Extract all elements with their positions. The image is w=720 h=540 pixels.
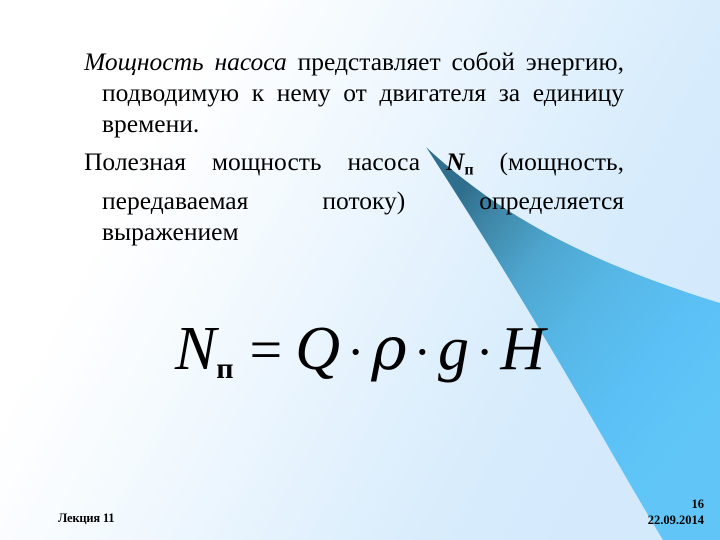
- slide-date: 22.09.2014: [648, 512, 704, 528]
- formula-term-q: Q: [295, 318, 340, 380]
- formula-term-h: H: [500, 318, 545, 380]
- formula-operator-dot-1: ·: [340, 323, 371, 382]
- lecture-label: Лекция 11: [58, 511, 114, 525]
- slide-body: Мощность насоса представляет собой энерг…: [84, 46, 624, 247]
- emphasis-power-of-pump: Мощность насоса: [84, 47, 287, 76]
- variable-n-useful: Nп: [446, 147, 474, 176]
- formula-lhs-subscript: п: [216, 352, 233, 386]
- variable-n-symbol: N: [446, 147, 464, 176]
- formula-term-g: g: [438, 318, 469, 380]
- paragraph-useful-power-lead: Полезная мощность насоса: [84, 147, 446, 176]
- slide-canvas: Мощность насоса представляет собой энерг…: [0, 0, 720, 540]
- formula-useful-power: Nп=Q·ρ·g·H: [0, 316, 720, 386]
- slide-footer-meta: 16 22.09.2014: [648, 496, 704, 528]
- formula-lhs-symbol: N: [175, 318, 216, 380]
- formula-term-rho: ρ: [371, 319, 406, 379]
- page-number: 16: [648, 496, 704, 512]
- formula-operator-dot-2: ·: [407, 323, 438, 382]
- paragraph-useful-power: Полезная мощность насоса Nп (мощность, п…: [84, 146, 624, 247]
- formula-equals-sign: =: [234, 316, 296, 383]
- formula-operator-dot-3: ·: [469, 323, 500, 382]
- variable-n-subscript: п: [464, 161, 473, 178]
- paragraph-power-definition: Мощность насоса представляет собой энерг…: [84, 46, 624, 139]
